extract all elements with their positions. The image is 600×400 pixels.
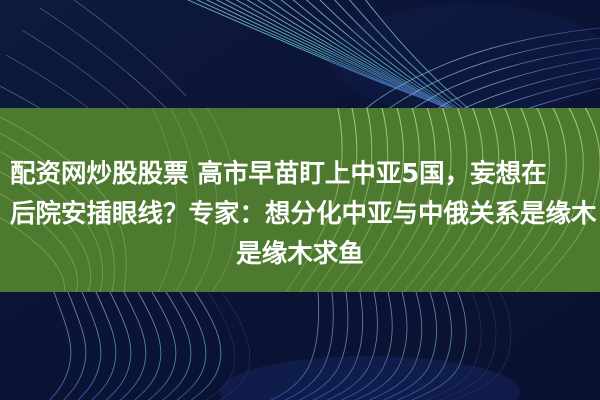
green-wave-field-art <box>0 108 600 292</box>
banner-image: 配资网炒股股票 高市早苗盯上中亚5国，妄想在 后院安插眼线？专家：想分化中亚与中… <box>0 0 600 400</box>
green-headline-band <box>0 108 600 292</box>
